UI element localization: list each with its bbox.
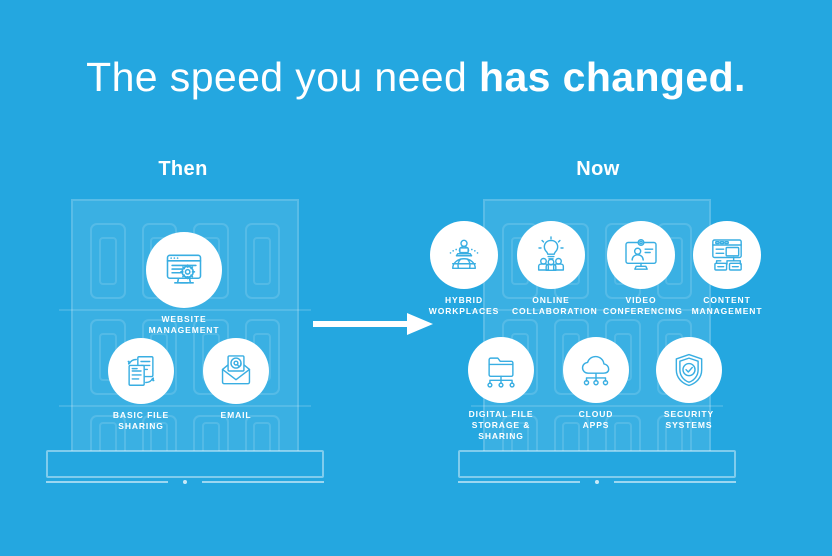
building-window (90, 223, 126, 299)
folder-network-icon (468, 337, 534, 403)
ground-line (46, 481, 168, 483)
ground-line (458, 481, 580, 483)
badge-label: DIGITAL FILE STORAGE & SHARING (452, 409, 550, 442)
badge-online-collaboration[interactable]: ONLINE COLLABORATION (512, 221, 590, 317)
ground-line (202, 481, 324, 483)
ground-dot (183, 480, 187, 484)
building-base-now (458, 450, 736, 478)
globe-laptop-person-icon (430, 221, 498, 289)
page-title: The speed you need has changed. (0, 52, 832, 102)
section-heading-now: Now (498, 158, 698, 181)
badge-basic-file-sharing[interactable]: BASIC FILE SHARING (94, 338, 188, 432)
page-title-bold: has changed. (479, 54, 746, 100)
monitor-videocall-icon (607, 221, 675, 289)
arrow-shaft (313, 321, 409, 327)
envelope-at-icon (203, 338, 269, 404)
badge-label: BASIC FILE SHARING (94, 410, 188, 432)
ground-line (614, 481, 736, 483)
badge-label: SECURITY SYSTEMS (654, 409, 724, 431)
lightbulb-team-icon (517, 221, 585, 289)
badge-security-systems[interactable]: SECURITY SYSTEMS (654, 337, 724, 431)
cms-sitemap-icon (693, 221, 761, 289)
ground-dot (595, 480, 599, 484)
infographic-canvas: The speed you need has changed. Then Now (0, 0, 832, 556)
badge-hybrid-workplaces[interactable]: HYBRID WORKPLACES (428, 221, 500, 317)
badge-cloud-apps[interactable]: CLOUD APPS (562, 337, 630, 431)
badge-label: ONLINE COLLABORATION (512, 295, 590, 317)
cloud-network-icon (563, 337, 629, 403)
arrow-right-icon (313, 313, 433, 335)
shield-check-icon (656, 337, 722, 403)
badge-label: VIDEO CONFERENCING (603, 295, 679, 317)
badge-label: HYBRID WORKPLACES (428, 295, 500, 317)
badge-digital-file-storage-sharing[interactable]: DIGITAL FILE STORAGE & SHARING (452, 337, 550, 442)
badge-email[interactable]: EMAIL (203, 338, 269, 421)
badge-video-conferencing[interactable]: VIDEO CONFERENCING (603, 221, 679, 317)
section-heading-then: Then (83, 158, 283, 181)
badge-label: EMAIL (203, 410, 269, 421)
page-title-light: The speed you need (86, 54, 479, 100)
documents-exchange-icon (108, 338, 174, 404)
badge-website-management[interactable]: WEBSITE MANAGEMENT (143, 232, 225, 336)
building-base-then (46, 450, 324, 478)
badge-content-management[interactable]: CONTENT MANAGEMENT (689, 221, 765, 317)
badge-label: CONTENT MANAGEMENT (689, 295, 765, 317)
badge-label: CLOUD APPS (562, 409, 630, 431)
building-window (245, 223, 281, 299)
badge-label: WEBSITE MANAGEMENT (143, 314, 225, 336)
monitor-gear-icon (146, 232, 222, 308)
